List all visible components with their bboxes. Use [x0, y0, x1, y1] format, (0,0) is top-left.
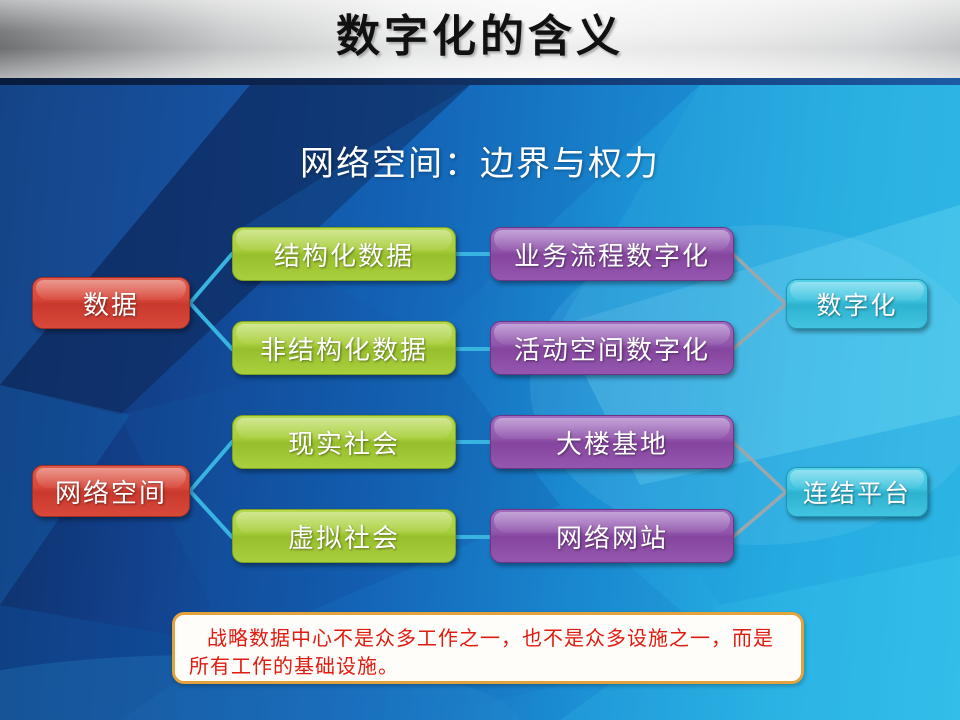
- node-cyberspace-label: 网络空间: [55, 473, 167, 510]
- node-activity-space-digitization-label: 活动空间数字化: [514, 330, 710, 367]
- node-business-process-digitization[interactable]: 业务流程数字化: [490, 227, 734, 281]
- callout-text: 战略数据中心不是众多工作之一，也不是众多设施之一，而是所有工作的基础设施。: [189, 624, 787, 680]
- node-data-label: 数据: [83, 285, 139, 322]
- node-digitization-label: 数字化: [816, 286, 897, 322]
- node-structured-data[interactable]: 结构化数据: [232, 227, 456, 281]
- node-business-process-digitization-label: 业务流程数字化: [514, 236, 710, 273]
- title-underline: [0, 78, 960, 85]
- node-digitization[interactable]: 数字化: [786, 279, 928, 329]
- node-real-society-label: 现实社会: [288, 424, 400, 461]
- node-building-base[interactable]: 大楼基地: [490, 415, 734, 469]
- node-network-website-label: 网络网站: [556, 518, 668, 555]
- node-virtual-society-label: 虚拟社会: [288, 518, 400, 555]
- node-unstructured-data-label: 非结构化数据: [260, 330, 428, 367]
- node-connection-platform[interactable]: 连结平台: [786, 467, 928, 517]
- slide-subtitle: 网络空间：边界与权力: [0, 136, 960, 185]
- node-structured-data-label: 结构化数据: [274, 236, 414, 273]
- node-cyberspace[interactable]: 网络空间: [32, 465, 190, 517]
- page-title: 数字化的含义: [0, 6, 960, 68]
- node-building-base-label: 大楼基地: [556, 424, 668, 461]
- slide-canvas: 数字化的含义 网络空间：边界与权力: [0, 0, 960, 720]
- node-real-society[interactable]: 现实社会: [232, 415, 456, 469]
- node-connection-platform-label: 连结平台: [803, 474, 911, 510]
- node-unstructured-data[interactable]: 非结构化数据: [232, 321, 456, 375]
- node-activity-space-digitization[interactable]: 活动空间数字化: [490, 321, 734, 375]
- node-network-website[interactable]: 网络网站: [490, 509, 734, 563]
- callout-box: 战略数据中心不是众多工作之一，也不是众多设施之一，而是所有工作的基础设施。: [172, 612, 804, 684]
- node-data[interactable]: 数据: [32, 277, 190, 329]
- node-virtual-society[interactable]: 虚拟社会: [232, 509, 456, 563]
